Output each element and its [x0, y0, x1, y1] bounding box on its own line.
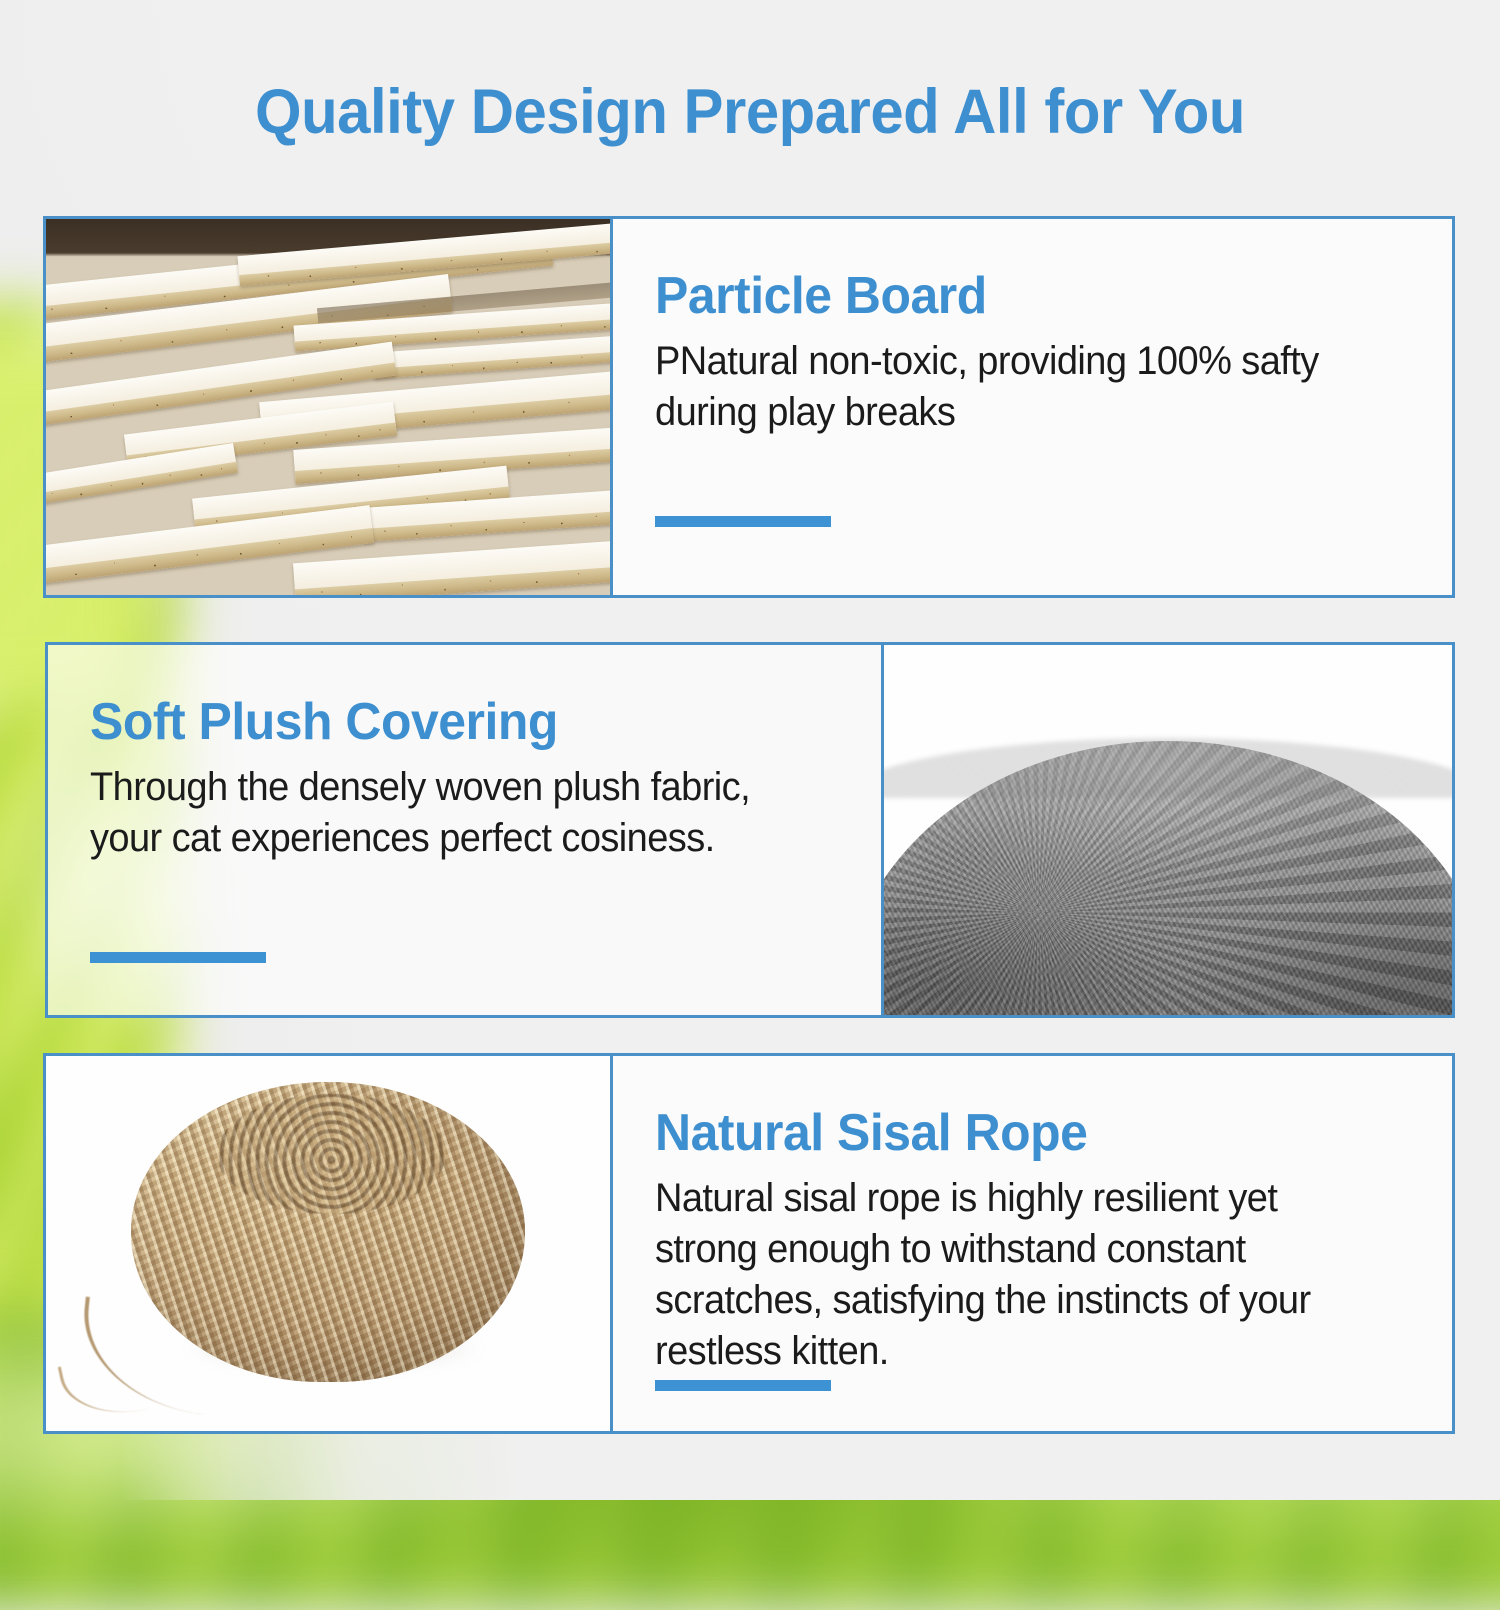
page-title: Quality Design Prepared All for You — [38, 76, 1463, 148]
infographic-page: Quality Design Prepared All for You — [0, 0, 1500, 1500]
plush-body: Through the densely woven plush fabric, … — [90, 762, 755, 864]
feature-card-plush: Soft Plush Covering Through the densely … — [45, 642, 1455, 1018]
particle-board-text-panel: Particle Board PNatural non-toxic, provi… — [613, 219, 1452, 595]
particle-board-photo — [46, 219, 610, 595]
particle-board-heading: Particle Board — [655, 269, 1382, 324]
plush-text-panel: Soft Plush Covering Through the densely … — [48, 645, 881, 1015]
sisal-body: Natural sisal rope is highly resilient y… — [655, 1173, 1374, 1378]
plush-heading: Soft Plush Covering — [90, 695, 811, 750]
feature-card-sisal: Natural Sisal Rope Natural sisal rope is… — [43, 1053, 1455, 1434]
accent-bar — [90, 952, 266, 963]
particle-board-body: PNatural non-toxic, providing 100% safty… — [655, 336, 1374, 438]
sisal-text-panel: Natural Sisal Rope Natural sisal rope is… — [613, 1056, 1452, 1431]
sisal-rope-photo — [46, 1056, 610, 1431]
accent-bar — [655, 1380, 831, 1391]
accent-bar — [655, 516, 831, 527]
sisal-heading: Natural Sisal Rope — [655, 1106, 1382, 1161]
plush-fabric-photo — [884, 645, 1452, 1015]
feature-card-particle-board: Particle Board PNatural non-toxic, provi… — [43, 216, 1455, 598]
